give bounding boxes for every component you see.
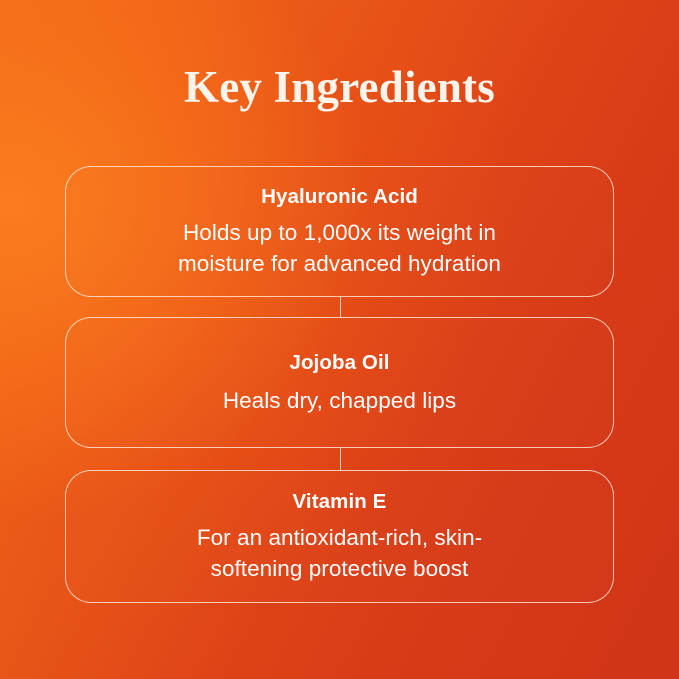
ingredient-description: Holds up to 1,000x its weight in moistur…	[178, 217, 501, 279]
ingredient-name: Hyaluronic Acid	[261, 184, 418, 210]
ingredient-description: For an antioxidant-rich, skin- softening…	[197, 522, 482, 584]
ingredient-card-vitamin-e: Vitamin E For an antioxidant-rich, skin-…	[65, 470, 614, 603]
ingredient-description: Heals dry, chapped lips	[223, 385, 456, 416]
ingredient-card-hyaluronic-acid: Hyaluronic Acid Holds up to 1,000x its w…	[65, 166, 614, 297]
ingredient-name: Vitamin E	[293, 489, 387, 515]
ingredient-name: Jojoba Oil	[289, 350, 389, 376]
key-ingredients-poster: Key Ingredients Hyaluronic Acid Holds up…	[0, 0, 679, 679]
title-container: Key Ingredients	[0, 58, 679, 116]
ingredient-card-jojoba-oil: Jojoba Oil Heals dry, chapped lips	[65, 317, 614, 448]
page-title: Key Ingredients	[184, 58, 495, 116]
ingredient-card-list: Hyaluronic Acid Holds up to 1,000x its w…	[65, 166, 614, 603]
